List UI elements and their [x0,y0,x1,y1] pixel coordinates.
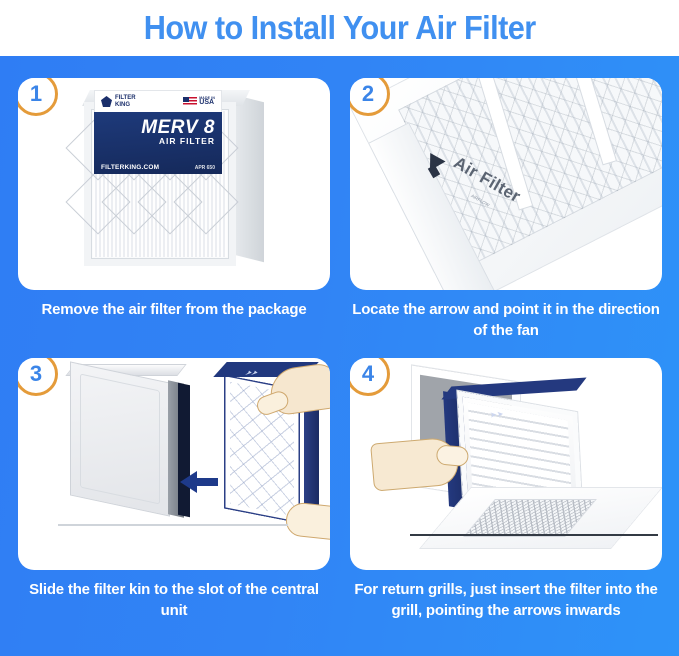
hand-supporting-filter-bottom [284,501,330,541]
usa-flag-icon [183,97,197,106]
hand-holding-grille [370,436,460,491]
step-1-card: 1 [18,78,330,290]
merv-filter-box: FILTER KING MADE IN USA [80,92,270,274]
step-2-number: 2 [362,81,374,107]
step-4-caption: For return grills, just insert the filte… [350,580,662,621]
filter-slot [178,383,190,518]
step-2-card: 2 Air Filter AIRFLOW [350,78,662,290]
ground-shadow-line [58,524,288,526]
ceiling-edge-line [410,534,658,536]
filter-product-label: FILTER KING MADE IN USA [94,90,222,174]
step-3-card: 3 ➤➤ [18,358,330,570]
step-3: 3 ➤➤ [18,358,330,621]
filter-arrow-marks-icon: ➤➤ [490,409,504,419]
step-1: 1 [18,78,330,321]
step-1-caption: Remove the air filter from the package [18,300,330,321]
step-2: 2 Air Filter AIRFLOW Locate the arrow an… [350,78,662,341]
usa-text: MADE IN USA [199,97,215,107]
made-in-usa-badge: MADE IN USA [183,97,215,107]
apr-rating: APR 650 [195,165,215,171]
page-title: How to Install Your Air Filter [144,9,536,47]
step-3-number: 3 [30,361,42,387]
filter-king-logo: FILTER KING [101,95,136,108]
step-3-illustration: ➤➤ [18,358,330,570]
infographic-page: How to Install Your Air Filter 1 [0,0,679,656]
brand-website: FILTERKING.COM [101,164,159,171]
step-1-illustration: FILTER KING MADE IN USA [18,78,330,290]
step-1-number: 1 [30,81,42,107]
step-2-illustration: Air Filter AIRFLOW [350,78,662,290]
step-2-caption: Locate the arrow and point it in the dir… [350,300,662,341]
central-unit-face [70,361,170,516]
crown-icon [101,96,112,107]
steps-grid: 1 [0,56,679,656]
product-type: AIR FILTER [101,136,215,146]
label-footer: FILTERKING.COM APR 650 [101,164,215,174]
brand-name: FILTER KING [115,95,136,108]
header-bar: How to Install Your Air Filter [0,0,679,56]
label-main-panel: MERV 8 AIR FILTER FILTERKING.COM APR 650 [94,112,222,174]
label-brand-row: FILTER KING MADE IN USA [94,90,222,112]
step-4: 4 ➤➤ For return grills, just insert the … [350,358,662,621]
step-4-card: 4 ➤➤ [350,358,662,570]
step-4-number: 4 [362,361,374,387]
step-3-caption: Slide the filter kin to the slot of the … [18,580,330,621]
step-4-illustration: ➤➤ [350,358,662,570]
